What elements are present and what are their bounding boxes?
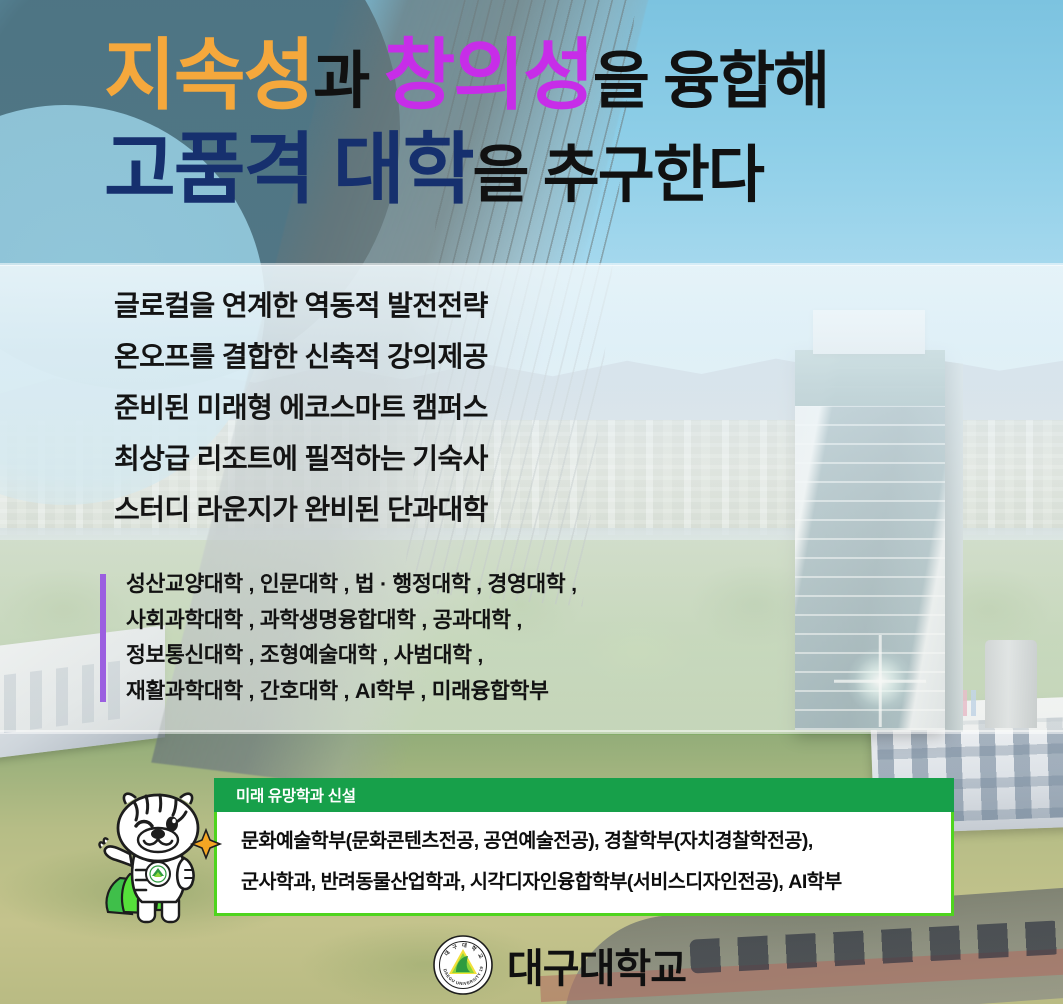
- headline-seg-quality-university: 고품격 대학: [104, 125, 472, 213]
- daegu-university-emblem-icon: 대 구 대 학 교 DAEGU UNIVERSITY 1956: [432, 934, 494, 996]
- headline-line-1: 지속성과 창의성을 융합해: [104, 36, 1004, 114]
- bullet-item-4: 최상급 리조트에 필적하는 기숙사: [114, 445, 734, 473]
- panel-header-bar: 미래 유망학과 신설: [214, 778, 954, 812]
- headline-seg-and: 과: [313, 47, 383, 116]
- panel-header-label: 미래 유망학과 신설: [236, 784, 356, 806]
- white-tiger-mascot: [86, 782, 228, 930]
- panel-line-2: 군사학과, 반려동물산업학과, 시각디자인융합학부(서비스디자인전공), AI학…: [241, 873, 927, 893]
- headline-block: 지속성과 창의성을 융합해 고품격 대학을 추구한다: [104, 36, 1004, 208]
- university-name: 대구대학교: [507, 936, 686, 994]
- bullet-item-2: 온오프를 결합한 신축적 강의제공: [114, 343, 734, 371]
- mascot-head-stripe-2: [146, 796, 148, 813]
- band-top-edge: [0, 263, 1063, 266]
- university-logo: 대 구 대 학 교 DAEGU UNIVERSITY 1956 대구대학교: [432, 934, 686, 996]
- panel-line-1: 문화예술학부(문화콘텐츠전공, 공연예술전공), 경찰학부(자치경찰학전공),: [241, 832, 927, 852]
- new-departments-panel: 미래 유망학과 신설 문화예술학부(문화콘텐츠전공, 공연예술전공), 경찰학부…: [214, 778, 954, 916]
- poster-root: 지속성과 창의성을 융합해 고품격 대학을 추구한다 글로컬을 연계한 역동적 …: [0, 0, 1063, 1004]
- panel-body: 문화예술학부(문화콘텐츠전공, 공연예술전공), 경찰학부(자치경찰학전공), …: [214, 812, 954, 916]
- college-list: 성산교양대학 , 인문대학 , 법 · 행정대학 , 경영대학 , 사회과학대학…: [100, 574, 720, 702]
- college-line-3: 정보통신대학 , 조형예술대학 , 사범대학 ,: [126, 645, 720, 667]
- strategy-bullet-list: 글로컬을 연계한 역동적 발전전략 온오프를 결합한 신축적 강의제공 준비된 …: [114, 292, 734, 547]
- mascot-nose: [151, 829, 165, 839]
- mascot-arm-right: [177, 858, 193, 889]
- band-bottom-edge: [0, 730, 1063, 734]
- mascot-head-stripe-3: [160, 795, 161, 811]
- headline-seg-fusion: 을 융합해: [593, 47, 828, 116]
- bullet-item-3: 준비된 미래형 에코스마트 캠퍼스: [114, 394, 734, 422]
- headline-seg-sustainability: 지속성: [104, 31, 313, 119]
- college-line-2: 사회과학대학 , 과학생명융합대학 , 공과대학 ,: [126, 610, 720, 632]
- headline-seg-creativity: 창의성: [384, 31, 593, 119]
- headline-line-2: 고품격 대학을 추구한다: [104, 130, 1004, 208]
- headline-seg-pursue: 을 추구한다: [472, 141, 762, 210]
- college-line-4: 재활과학대학 , 간호대학 , AI학부 , 미래융합학부: [126, 681, 720, 703]
- bullet-item-5: 스터디 라운지가 완비된 단과대학: [114, 496, 734, 524]
- college-line-1: 성산교양대학 , 인문대학 , 법 · 행정대학 , 경영대학 ,: [126, 574, 720, 596]
- bullet-item-1: 글로컬을 연계한 역동적 발전전략: [114, 292, 734, 320]
